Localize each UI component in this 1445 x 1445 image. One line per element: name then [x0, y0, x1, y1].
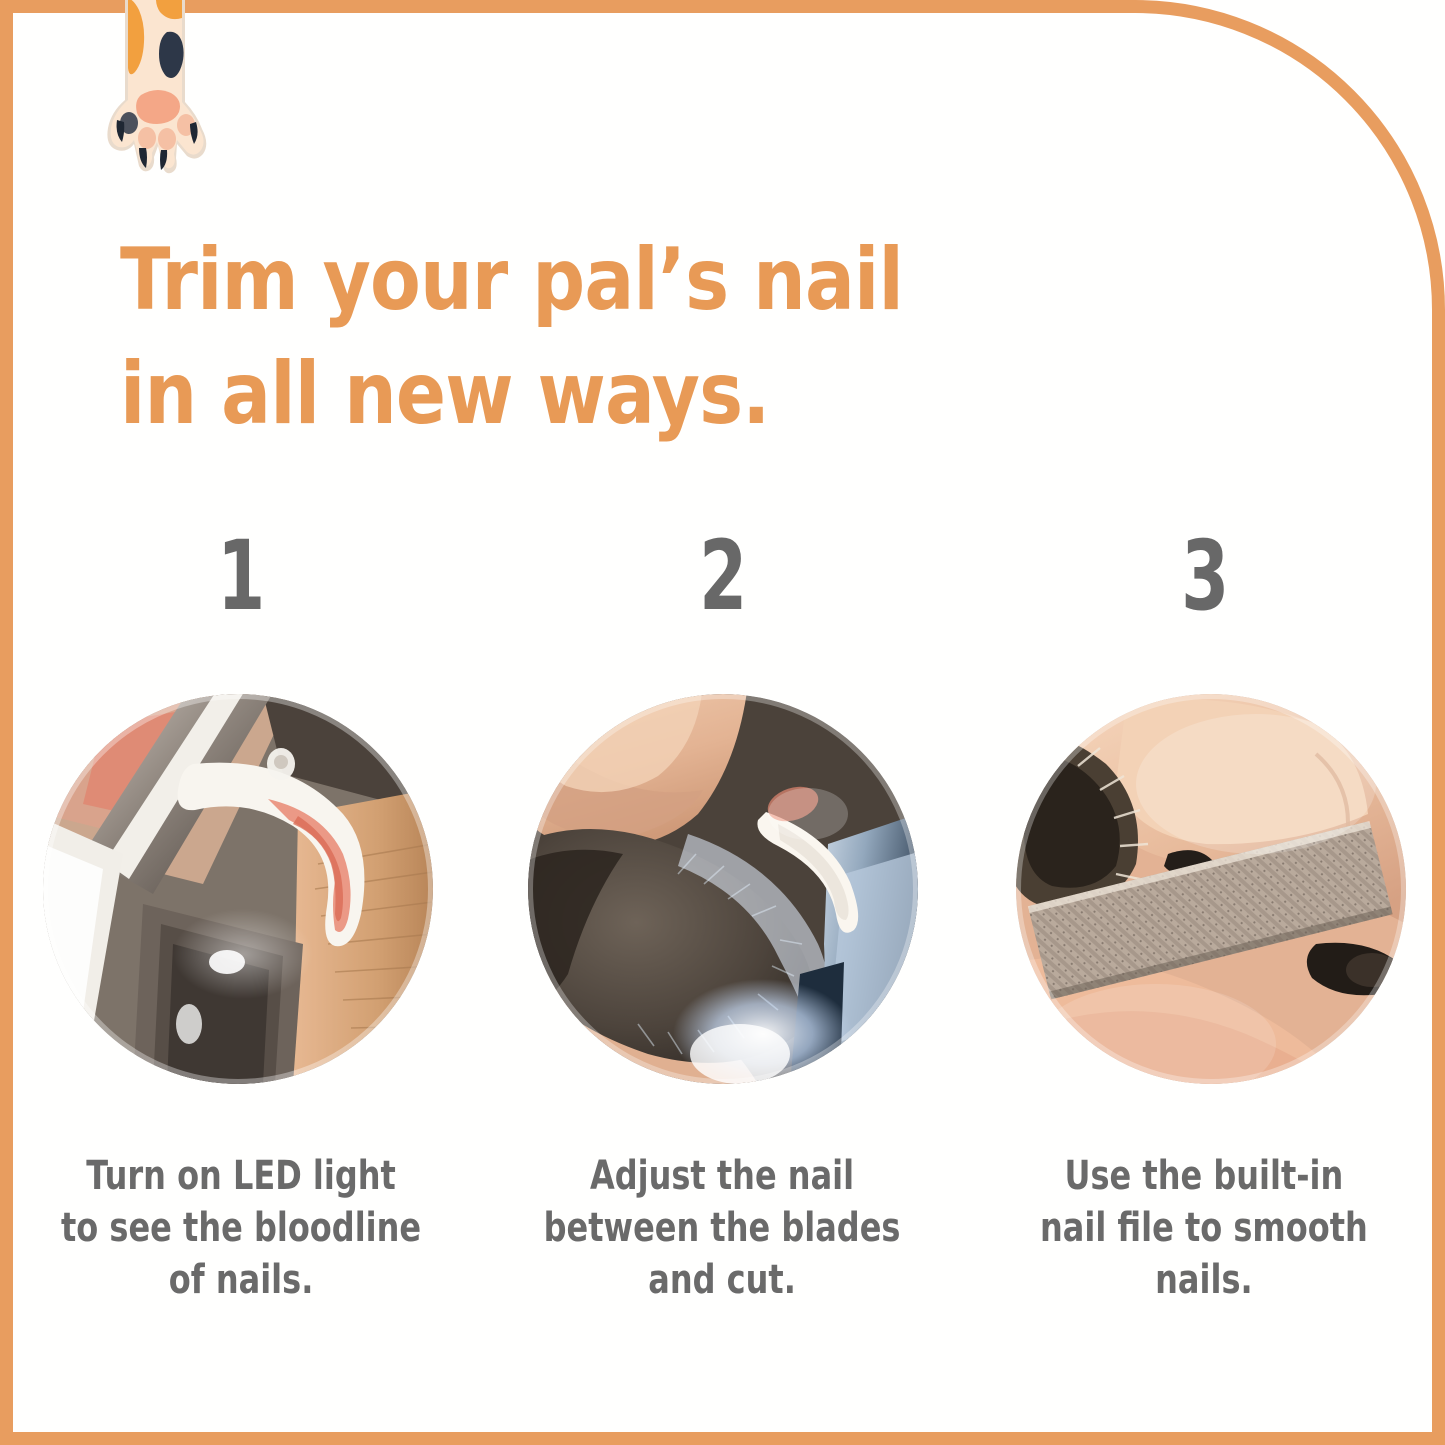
photo-adjust-nail-between-blades	[528, 694, 918, 1084]
caption-line: Use the built-in	[1040, 1150, 1368, 1202]
step-caption-1: Turn on LED light to see the bloodline o…	[61, 1150, 421, 1306]
step-item-1: 1	[0, 520, 482, 1350]
headline-line-1: Trim your pal’s nail	[120, 224, 894, 338]
caption-line: of nails.	[61, 1254, 421, 1306]
photo-built-in-nail-file	[1016, 694, 1406, 1084]
step-number-3: 3	[1181, 520, 1228, 632]
step-caption-3: Use the built-in nail file to smooth nai…	[1040, 1150, 1368, 1306]
caption-line: and cut.	[544, 1254, 901, 1306]
step-item-3: 3	[963, 520, 1445, 1350]
caption-line: Adjust the nail	[544, 1150, 901, 1202]
step-number-1: 1	[218, 520, 265, 632]
orange-frame-bottom-edge	[0, 1432, 1445, 1445]
cat-paw-icon	[101, 0, 227, 174]
photo-led-light-bloodline	[43, 694, 433, 1084]
step-item-2: 2	[482, 520, 964, 1350]
caption-line: between the blades	[544, 1202, 901, 1254]
caption-line: nails.	[1040, 1254, 1368, 1306]
page-title: Trim your pal’s nail in all new ways.	[120, 224, 894, 451]
caption-line: nail file to smooth	[1040, 1202, 1368, 1254]
caption-line: Turn on LED light	[61, 1150, 421, 1202]
caption-line: to see the bloodline	[61, 1202, 421, 1254]
step-number-2: 2	[699, 520, 746, 632]
step-caption-2: Adjust the nail between the blades and c…	[544, 1150, 901, 1306]
steps-row: 1	[0, 520, 1445, 1350]
headline-line-2: in all new ways.	[120, 338, 894, 452]
promo-card: Trim your pal’s nail in all new ways. 1	[0, 0, 1445, 1445]
